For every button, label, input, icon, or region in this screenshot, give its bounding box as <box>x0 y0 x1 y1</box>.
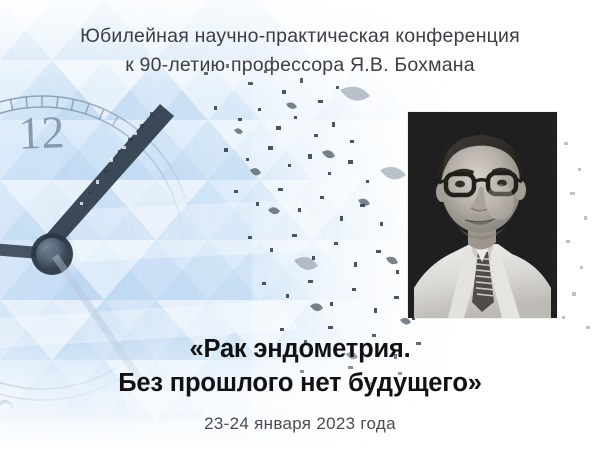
headline-line-1: «Рак эндометрия. <box>0 332 600 366</box>
photo-edge-specks <box>556 120 600 350</box>
header-line-1: Юбилейная научно-практическая конференци… <box>0 22 600 51</box>
conference-poster: 12 11 10 9 8 <box>0 0 600 450</box>
header-line-2: к 90-летию профессора Я.В. Бохмана <box>0 51 600 80</box>
headline-block: «Рак эндометрия. Без прошлого нет будуще… <box>0 332 600 400</box>
portrait-photo <box>408 112 557 318</box>
headline-line-2: Без прошлого нет будущего» <box>0 366 600 400</box>
header-block: Юбилейная научно-практическая конференци… <box>0 22 600 80</box>
clock-numeral-12: 12 <box>18 106 66 159</box>
event-date: 23-24 января 2023 года <box>0 414 600 434</box>
